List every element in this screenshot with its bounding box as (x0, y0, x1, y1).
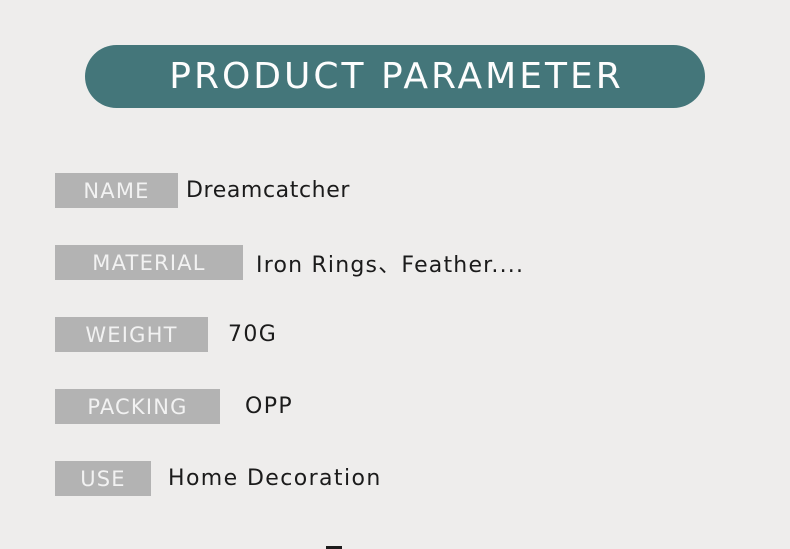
spec-value-weight: 70G (228, 317, 277, 352)
spec-value-packing: OPP (245, 389, 293, 424)
page-title-banner: PRODUCT PARAMETER (85, 45, 705, 108)
spec-value-name: Dreamcatcher (186, 173, 350, 208)
spec-label-weight: WEIGHT (55, 317, 208, 352)
product-parameter-page: PRODUCT PARAMETER NAME Dreamcatcher MATE… (0, 0, 790, 549)
page-title: PRODUCT PARAMETER (166, 59, 623, 95)
table-row: NAME Dreamcatcher (0, 160, 790, 232)
spec-value-use: Home Decoration (168, 461, 382, 496)
spec-label-material: MATERIAL (55, 245, 243, 280)
table-row: WEIGHT 70G (0, 304, 790, 376)
table-row: PACKING OPP (0, 376, 790, 448)
spec-label-use: USE (55, 461, 151, 496)
specification-table: NAME Dreamcatcher MATERIAL Iron Rings、Fe… (0, 160, 790, 520)
table-row: USE Home Decoration (0, 448, 790, 520)
spec-label-packing: PACKING (55, 389, 220, 424)
spec-label-name: NAME (55, 173, 178, 208)
spec-value-material: Iron Rings、Feather.... (256, 245, 524, 280)
table-row: MATERIAL Iron Rings、Feather.... (0, 232, 790, 304)
